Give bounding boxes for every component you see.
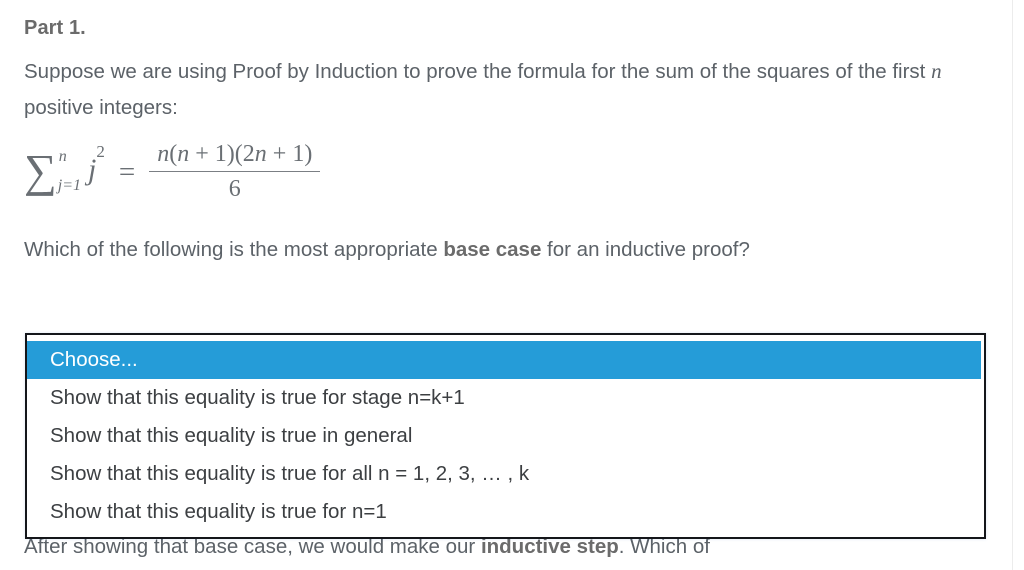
summation-formula: ∑ n j=1 j2 = n(n + 1)(2n + 1) 6 [24, 134, 986, 208]
question-content: Part 1. Suppose we are using Proof by In… [0, 0, 1012, 268]
numerator-n1: n [157, 141, 169, 167]
question-emphasis-base-case: base case [443, 238, 541, 261]
summand-exponent: 2 [96, 142, 105, 161]
question-paragraph: Which of the following is the most appro… [24, 232, 986, 268]
select-option-n-equals-1[interactable]: Show that this equality is true for n=1 [27, 493, 984, 531]
page-title: Part 1. [24, 16, 986, 40]
question-text-before: Which of the following is the most appro… [24, 238, 443, 261]
select-option-list[interactable]: Choose... Show that this equality is tru… [27, 335, 984, 537]
sigma-upper-limit: n [59, 149, 81, 166]
numerator-n3: n [255, 141, 267, 167]
select-option-in-general[interactable]: Show that this equality is true in gener… [27, 417, 984, 455]
numerator-n2: n [177, 141, 189, 167]
page-divider [1012, 0, 1013, 570]
fraction-denominator: 6 [229, 172, 241, 203]
intro-text-before: Suppose we are using Proof by Induction … [24, 60, 931, 83]
numerator-tail: + 1) [267, 141, 313, 167]
sigma-lower-limit: j=1 [58, 178, 81, 195]
select-option-stage-n-k-plus-1[interactable]: Show that this equality is true for stag… [27, 379, 984, 417]
numerator-mid: + 1)(2 [189, 141, 255, 167]
intro-text-after: positive integers: [24, 96, 178, 119]
select-option-choose[interactable]: Choose... [27, 341, 981, 379]
summand: j2 [88, 153, 105, 187]
formula-spacer [24, 208, 986, 232]
intro-variable-n: n [931, 59, 942, 83]
select-option-all-n-1-to-k[interactable]: Show that this equality is true for all … [27, 455, 984, 493]
intro-paragraph: Suppose we are using Proof by Induction … [24, 53, 986, 126]
question-text-after: for an inductive proof? [541, 238, 750, 261]
fraction-numerator: n(n + 1)(2n + 1) [149, 141, 320, 171]
sigma-icon: ∑ [24, 148, 57, 194]
equals-sign: = [119, 156, 135, 189]
base-case-select[interactable]: Choose... Show that this equality is tru… [25, 333, 986, 539]
sigma-limits: n j=1 [58, 149, 81, 195]
fraction: n(n + 1)(2n + 1) 6 [149, 141, 320, 204]
sigma-group: ∑ n j=1 [24, 148, 81, 194]
